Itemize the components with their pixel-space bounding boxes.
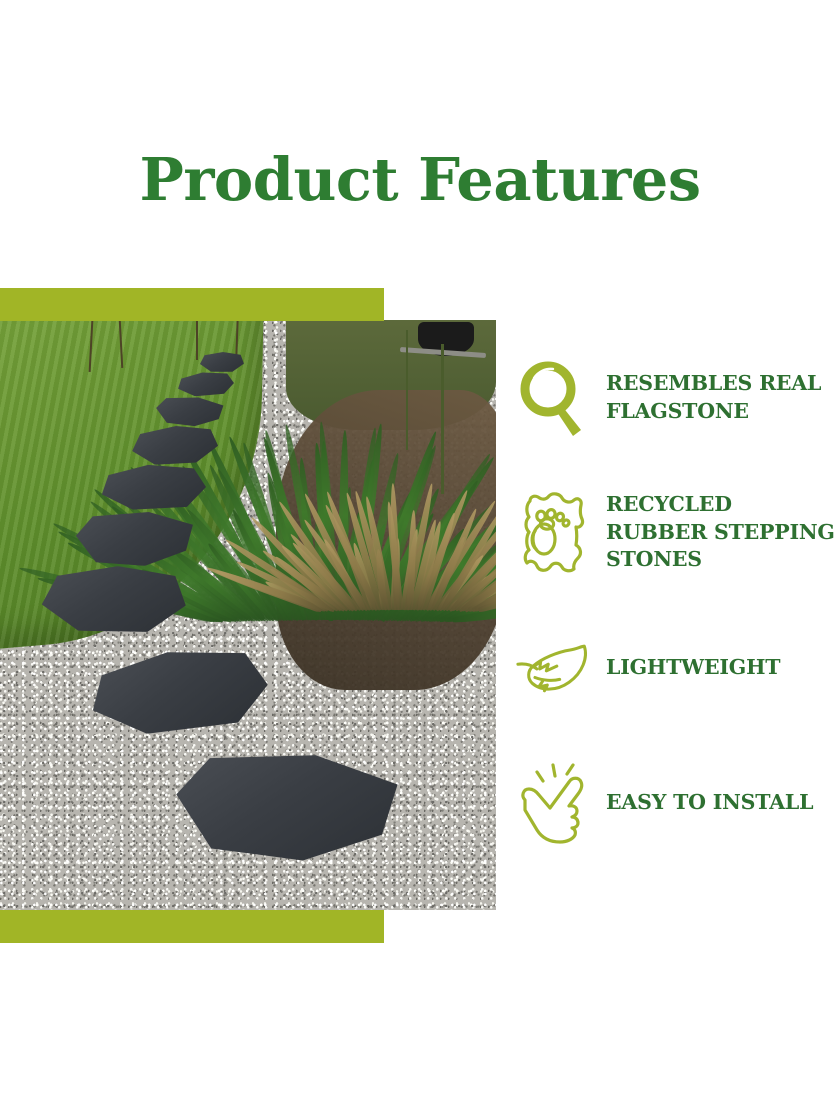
click-hand-icon bbox=[516, 761, 590, 845]
accent-bar-top bbox=[0, 288, 384, 321]
feature-label: EASY TO INSTALL bbox=[606, 789, 813, 817]
feature-item-resembles-real-flagstone: RESEMBLES REAL FLAGSTONE bbox=[516, 330, 836, 465]
product-photo bbox=[0, 320, 496, 910]
accent-bar-bottom bbox=[0, 910, 384, 943]
feature-item-lightweight: LIGHTWEIGHT bbox=[516, 600, 836, 735]
product-photo-block bbox=[0, 288, 496, 943]
page-title: Product Features bbox=[0, 150, 840, 209]
ornamental-grass-secondary bbox=[300, 440, 490, 610]
feature-list: RESEMBLES REAL FLAGSTONE RECYCLED RUBBER… bbox=[516, 330, 836, 870]
feature-label: RESEMBLES REAL FLAGSTONE bbox=[606, 370, 836, 426]
feature-item-recycled-rubber-stepping-stones: RECYCLED RUBBER STEPPING STONES bbox=[516, 465, 836, 600]
magnifying-glass-icon bbox=[516, 356, 590, 440]
feature-label: LIGHTWEIGHT bbox=[606, 654, 780, 682]
feature-item-easy-to-install: EASY TO INSTALL bbox=[516, 735, 836, 870]
feather-icon bbox=[516, 626, 590, 710]
footprint-stone-icon bbox=[516, 491, 590, 575]
feature-label: RECYCLED RUBBER STEPPING STONES bbox=[606, 491, 836, 575]
